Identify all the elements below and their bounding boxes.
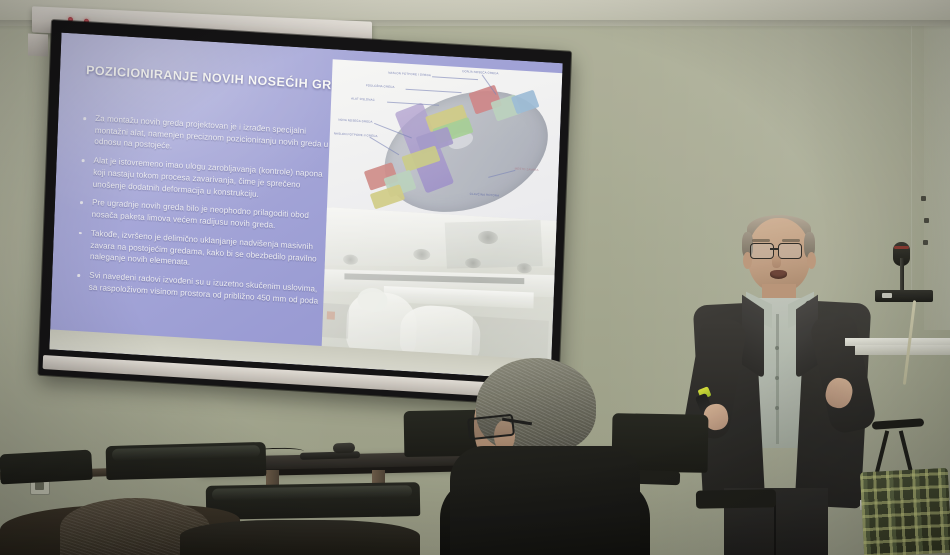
glasses-bridge-icon bbox=[770, 248, 778, 250]
cad-leader-line bbox=[406, 89, 462, 93]
presentation-room-photo: POZICIONIRANJE NOVIH NOSEĆIH GREDA Za mo… bbox=[0, 0, 950, 555]
presentation-slide: POZICIONIRANJE NOVIH NOSEĆIH GREDA Za mo… bbox=[49, 33, 562, 380]
roller-end-cap bbox=[28, 34, 48, 57]
presenter-ear bbox=[807, 252, 816, 269]
microphone-led-icon bbox=[882, 293, 892, 298]
cad-callout-label: NOVA NOSEĆA GREDA bbox=[338, 118, 372, 124]
list-item: Takođe, izvršeno je delimično uklanjanje… bbox=[75, 227, 328, 278]
seated-attendee bbox=[440, 358, 640, 555]
presenter-leg-separation bbox=[774, 500, 776, 555]
foreground-person-mid bbox=[180, 520, 420, 555]
chair-arm bbox=[696, 489, 776, 508]
presenter-eyebrow bbox=[782, 239, 800, 242]
screen-surface: POZICIONIRANJE NOVIH NOSEĆIH GREDA Za mo… bbox=[49, 33, 562, 380]
cad-callout-label: PODLOŽNA GREDA bbox=[366, 83, 395, 89]
microphone-gooseneck bbox=[900, 258, 904, 294]
shirt-button bbox=[775, 406, 779, 410]
projection-screen[interactable]: POZICIONIRANJE NOVIH NOSEĆIH GREDA Za mo… bbox=[38, 20, 571, 406]
slide-photo bbox=[321, 207, 558, 371]
glasses-icon bbox=[750, 243, 774, 259]
cad-diagram: NASLON POTPORE I GREDA PODLOŽNA GREDA AL… bbox=[327, 59, 563, 223]
presenter-mouth bbox=[770, 270, 787, 279]
wall-right-edge-strip bbox=[924, 0, 950, 330]
microphone-indicator-icon bbox=[894, 246, 909, 249]
presenter-eyebrow bbox=[752, 239, 770, 242]
conference-mic-puck[interactable] bbox=[333, 443, 355, 454]
wall-fixture-icon bbox=[924, 218, 929, 223]
plaid-upholstered-chair[interactable] bbox=[860, 468, 950, 555]
side-desk bbox=[855, 345, 950, 355]
list-item: Alat je istovremeno imao ulogu zarobljav… bbox=[78, 154, 331, 205]
cad-callout-label: DONJA NOSEĆA GREDA bbox=[462, 69, 498, 75]
glasses-icon bbox=[778, 243, 802, 259]
photo-overexposure bbox=[321, 207, 558, 371]
wall-corner-line bbox=[911, 0, 912, 300]
attendee-body bbox=[450, 446, 640, 555]
chair-back[interactable] bbox=[0, 450, 93, 485]
cad-leader-line bbox=[432, 76, 478, 79]
shirt-button bbox=[775, 346, 779, 350]
wall-fixture-icon bbox=[923, 240, 928, 245]
shirt-button bbox=[775, 376, 779, 380]
presenter-nose bbox=[772, 256, 781, 268]
cad-callout-label: NASLON POTPORE I GREDA bbox=[388, 71, 431, 78]
cad-callout-label: ALAT OSLONAC bbox=[351, 96, 375, 101]
slide-bullet-list: Za montažu novih greda projektovan je i … bbox=[73, 112, 332, 315]
wall-fixture-icon bbox=[921, 196, 926, 201]
